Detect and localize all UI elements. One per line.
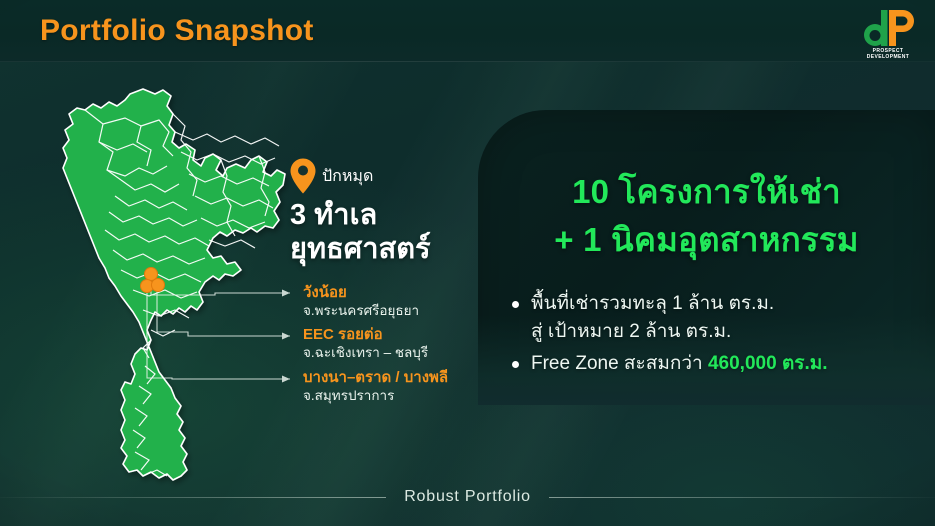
map-headline-line-1: 3 ทำเล <box>290 198 431 232</box>
leader-lines <box>147 276 290 383</box>
bullet-item-free-zone: Free Zone สะสมกว่า 460,000 ตร.ม. <box>512 350 932 378</box>
bullet-text: พื้นที่เช่ารวมทะลุ 1 ล้าน ตร.ม. <box>531 293 774 314</box>
pin-label: ปักหมุด <box>322 164 373 189</box>
panel-headline-line-1: 10 โครงการให้เช่า <box>478 172 935 212</box>
bullet-text: Free Zone สะสมกว่า <box>531 353 708 374</box>
bullet-highlight: 460,000 ตร.ม. <box>708 353 828 374</box>
map-marker-dots <box>141 268 165 293</box>
map-headline-line-2: ยุทธศาสตร์ <box>290 232 431 266</box>
map-pin-icon <box>290 158 316 194</box>
location-item-wang-noi: วังน้อย จ.พระนครศรีอยุธยา <box>303 283 419 320</box>
footer: Robust Portfolio <box>0 474 935 526</box>
bullet-subtext: สู่ เป้าหมาย 2 ล้าน ตร.ม. <box>531 318 932 346</box>
location-item-eec: EEC รอยต่อ จ.ฉะเชิงเทรา – ชลบุรี <box>303 325 428 362</box>
bullet-dot-icon <box>512 301 519 308</box>
slide-portfolio-snapshot: Portfolio Snapshot PROSPECT DEVELOPMENT <box>0 0 935 526</box>
footer-text: Robust Portfolio <box>386 488 549 506</box>
panel-headline-line-2: + 1 นิคมอุตสาหกรรม <box>478 220 935 260</box>
location-title: EEC รอยต่อ <box>303 325 428 344</box>
panel-bullet-list: พื้นที่เช่ารวมทะลุ 1 ล้าน ตร.ม. สู่ เป้า… <box>512 290 932 382</box>
bullet-item-leasable-area: พื้นที่เช่ารวมทะลุ 1 ล้าน ตร.ม. สู่ เป้า… <box>512 290 932 346</box>
bullet-dot-icon <box>512 361 519 368</box>
location-province: จ.สมุทรปราการ <box>303 387 448 405</box>
location-item-bangna-trad: บางนา–ตราด / บางพลี จ.สมุทรปราการ <box>303 368 448 405</box>
location-province: จ.ฉะเชิงเทรา – ชลบุรี <box>303 344 428 362</box>
location-province: จ.พระนครศรีอยุธยา <box>303 302 419 320</box>
pin-heading-row: ปักหมุด <box>290 158 373 194</box>
location-title: บางนา–ตราด / บางพลี <box>303 368 448 387</box>
map-headline: 3 ทำเล ยุทธศาสตร์ <box>290 198 431 266</box>
footer-rule-right <box>549 497 935 498</box>
location-title: วังน้อย <box>303 283 419 302</box>
footer-rule-left <box>0 497 386 498</box>
